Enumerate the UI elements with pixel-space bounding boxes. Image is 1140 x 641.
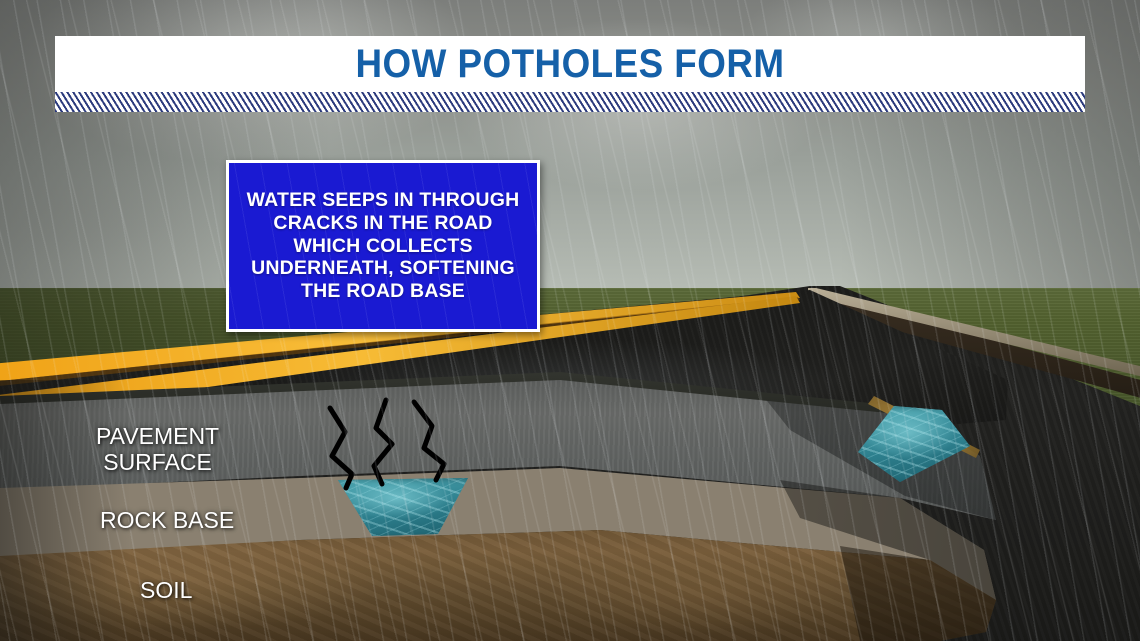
infographic-scene: PAVEMENT SURFACE ROCK BASE SOIL WATER SE… (0, 0, 1140, 641)
label-pavement-surface: PAVEMENT SURFACE (96, 424, 219, 476)
title-banner: HOW POTHOLES FORM (55, 36, 1085, 112)
page-title: HOW POTHOLES FORM (96, 36, 1044, 92)
label-soil: SOIL (140, 578, 192, 604)
callout-text: WATER SEEPS IN THROUGH CRACKS IN THE ROA… (239, 189, 527, 303)
banner-stripe-band (55, 92, 1085, 112)
callout-box: WATER SEEPS IN THROUGH CRACKS IN THE ROA… (226, 160, 540, 332)
label-rock-base: ROCK BASE (100, 508, 234, 534)
